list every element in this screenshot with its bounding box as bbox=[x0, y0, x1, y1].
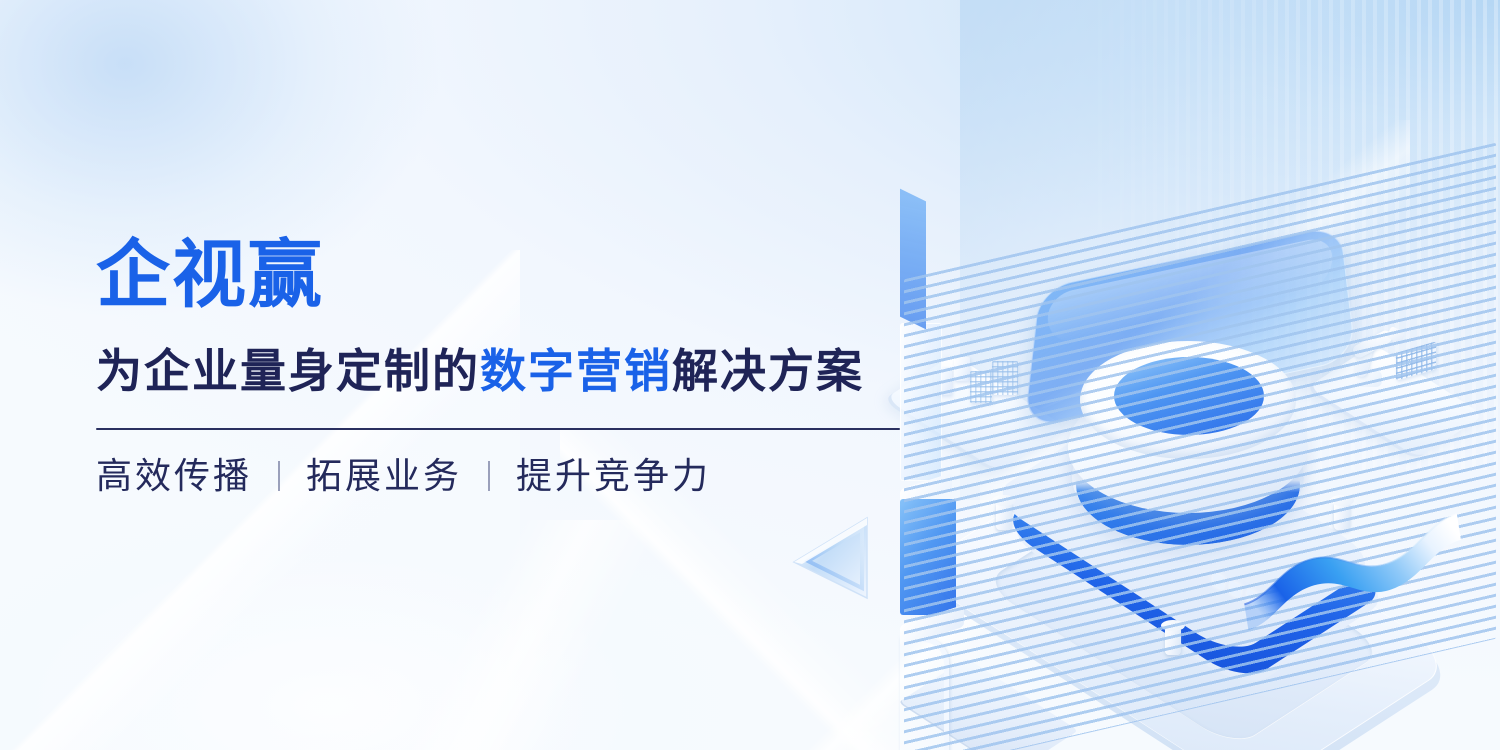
tagline-separator-icon bbox=[488, 461, 490, 491]
brand-title: 企视赢 bbox=[96, 238, 916, 312]
hero-illustration bbox=[900, 195, 1500, 715]
headline: 为企业量身定制的数字营销解决方案 bbox=[96, 346, 916, 398]
building-window-slats bbox=[904, 143, 1496, 750]
glass-triangle-icon bbox=[788, 512, 874, 604]
divider-rule bbox=[96, 428, 900, 430]
copy-block: 企视赢 为企业量身定制的数字营销解决方案 高效传播 拓展业务 提升竞争力 bbox=[96, 238, 916, 494]
tagline-separator-icon bbox=[278, 461, 280, 491]
headline-accent: 数字营销 bbox=[480, 345, 672, 397]
city-building-group bbox=[900, 195, 1500, 715]
tagline-item-0: 高效传播 bbox=[96, 458, 252, 494]
tagline-item-2: 提升竞争力 bbox=[516, 458, 711, 494]
tagline-row: 高效传播 拓展业务 提升竞争力 bbox=[96, 458, 916, 494]
headline-trail: 解决方案 bbox=[672, 345, 864, 397]
hero-banner: 企视赢 为企业量身定制的数字营销解决方案 高效传播 拓展业务 提升竞争力 bbox=[0, 0, 1500, 750]
tagline-item-1: 拓展业务 bbox=[306, 458, 462, 494]
headline-lead: 为企业量身定制的 bbox=[96, 345, 480, 397]
